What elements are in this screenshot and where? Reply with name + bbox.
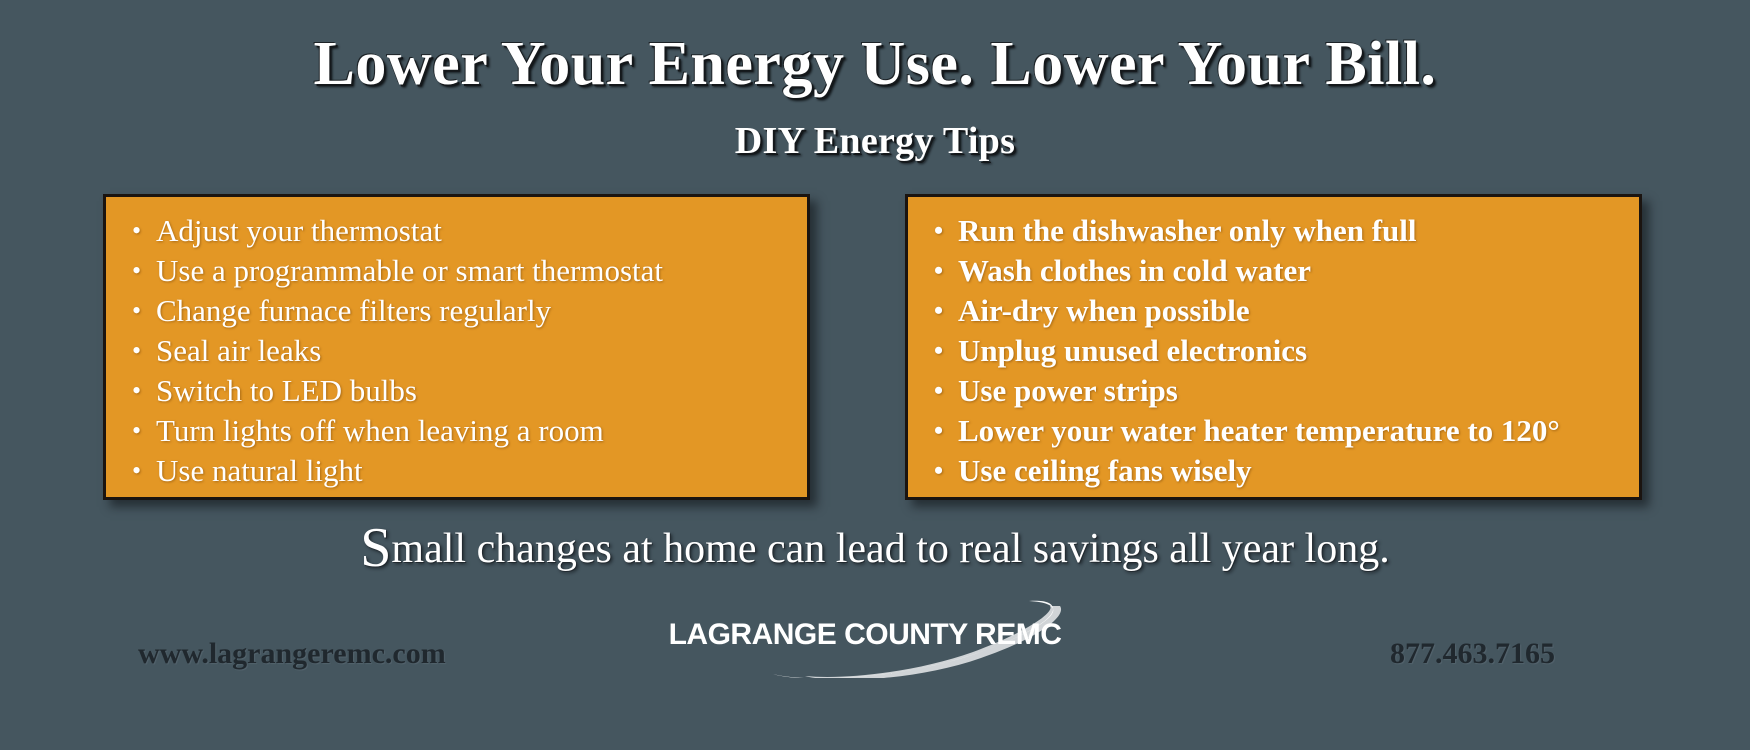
list-item: Adjust your thermostat: [128, 211, 789, 251]
list-item: Use natural light: [128, 451, 789, 491]
website-link[interactable]: www.lagrangeremc.com: [138, 637, 446, 671]
list-item: Switch to LED bulbs: [128, 371, 789, 411]
energy-tips-poster: Lower Your Energy Use. Lower Your Bill. …: [0, 0, 1750, 750]
list-item: Turn lights off when leaving a room: [128, 411, 789, 451]
tagline-rest: mall changes at home can lead to real sa…: [391, 526, 1389, 572]
list-item: Use power strips: [930, 371, 1621, 411]
list-item: Unplug unused electronics: [930, 331, 1621, 371]
list-item: Use ceiling fans wisely: [930, 451, 1621, 491]
brand-logo-text: LAGRANGE COUNTY REMC: [655, 618, 1075, 652]
tips-panel-left: Adjust your thermostat Use a programmabl…: [103, 194, 810, 500]
page-subtitle: DIY Energy Tips: [0, 118, 1750, 164]
list-item: Use a programmable or smart thermostat: [128, 251, 789, 291]
list-item: Run the dishwasher only when full: [930, 211, 1621, 251]
brand-logo: LAGRANGE COUNTY REMC: [655, 598, 1075, 678]
tagline: Small changes at home can lead to real s…: [0, 522, 1750, 575]
tips-list-right: Run the dishwasher only when full Wash c…: [930, 211, 1621, 491]
phone-number[interactable]: 877.463.7165: [1390, 637, 1555, 671]
list-item: Lower your water heater temperature to 1…: [930, 411, 1621, 451]
tips-panel-right: Run the dishwasher only when full Wash c…: [905, 194, 1642, 500]
page-title: Lower Your Energy Use. Lower Your Bill.: [0, 28, 1750, 100]
list-item: Change furnace filters regularly: [128, 291, 789, 331]
tips-list-left: Adjust your thermostat Use a programmabl…: [128, 211, 789, 491]
tagline-dropcap: S: [360, 517, 391, 579]
list-item: Wash clothes in cold water: [930, 251, 1621, 291]
list-item: Air-dry when possible: [930, 291, 1621, 331]
list-item: Seal air leaks: [128, 331, 789, 371]
